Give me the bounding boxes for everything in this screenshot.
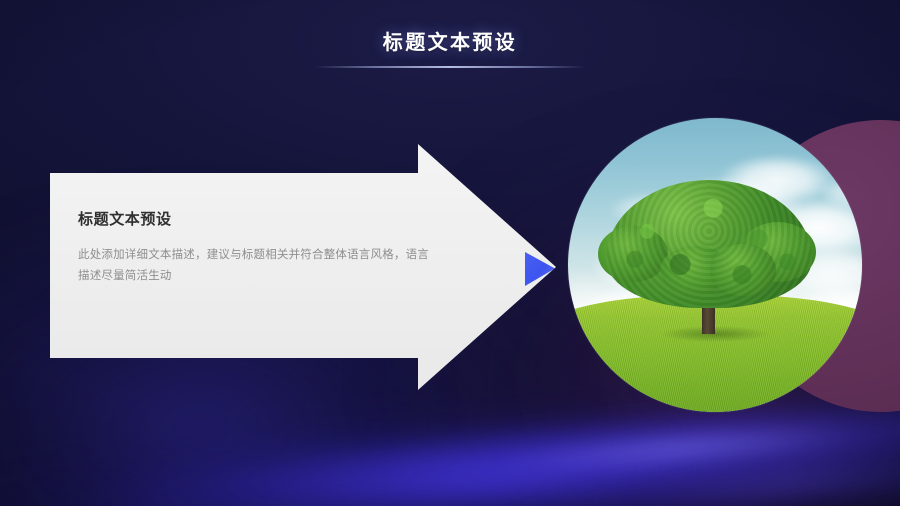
blue-triangle-icon bbox=[525, 251, 557, 287]
arrow-text-block: 标题文本预设 此处添加详细文本描述，建议与标题相关并符合整体语言风格，语言 描述… bbox=[78, 208, 468, 287]
photo-tree-shadow bbox=[660, 326, 770, 342]
card-heading: 标题文本预设 bbox=[78, 208, 468, 229]
right-arrow-callout[interactable]: 标题文本预设 此处添加详细文本描述，建议与标题相关并符合整体语言风格，语言 描述… bbox=[50, 144, 556, 390]
title-divider bbox=[315, 66, 585, 68]
tree-photo-circle bbox=[568, 118, 862, 412]
card-body-line-1: 此处添加详细文本描述，建议与标题相关并符合整体语言风格，语言 bbox=[78, 245, 468, 266]
blue-triangle-accent bbox=[525, 251, 557, 292]
slide-canvas: 标题文本预设 bbox=[0, 0, 900, 506]
card-body-line-2: 描述尽量简活生动 bbox=[78, 266, 468, 287]
photo-grass-texture bbox=[568, 294, 862, 412]
slide-title: 标题文本预设 bbox=[0, 26, 900, 55]
